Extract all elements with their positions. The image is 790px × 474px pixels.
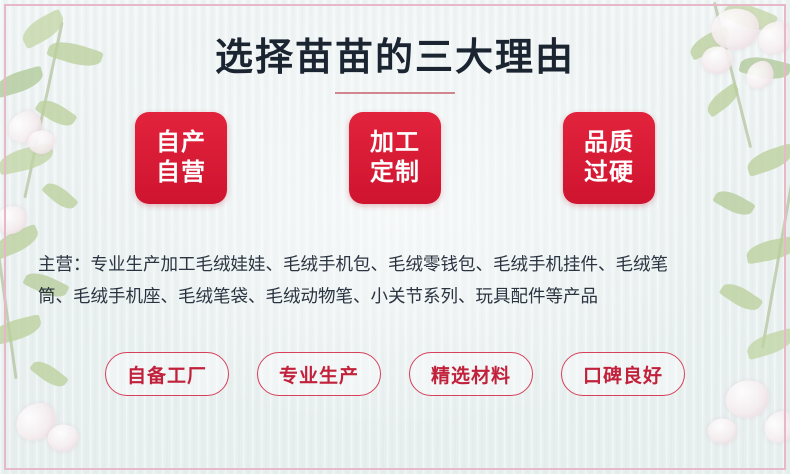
reason-badge-line1: 自产 bbox=[156, 128, 206, 158]
reason-badge-quality: 品质 过硬 bbox=[563, 112, 655, 204]
title-underline-divider bbox=[335, 92, 455, 94]
reason-badge-custom-processing: 加工 定制 bbox=[349, 112, 441, 204]
feature-tag-professional-production: 专业生产 bbox=[257, 352, 381, 396]
business-scope-description: 主营：专业生产加工毛绒娃娃、毛绒手机包、毛绒零钱包、毛绒手机挂件、毛绒笔 筒、毛… bbox=[38, 248, 752, 312]
feature-tag-list: 自备工厂 专业生产 精选材料 口碑良好 bbox=[0, 352, 790, 396]
banner-content: 选择苗苗的三大理由 自产 自营 加工 定制 品质 过硬 主营：专业生产加工毛绒娃… bbox=[0, 0, 790, 474]
reason-badge-line2: 过硬 bbox=[584, 158, 634, 188]
reason-badge-line1: 品质 bbox=[584, 128, 634, 158]
reason-badge-list: 自产 自营 加工 定制 品质 过硬 bbox=[0, 112, 790, 204]
promo-banner: 选择苗苗的三大理由 自产 自营 加工 定制 品质 过硬 主营：专业生产加工毛绒娃… bbox=[0, 0, 790, 474]
feature-tag-good-reputation: 口碑良好 bbox=[561, 352, 685, 396]
page-title: 选择苗苗的三大理由 bbox=[0, 26, 790, 81]
description-line-2: 筒、毛绒手机座、毛绒笔袋、毛绒动物笔、小关节系列、玩具配件等产品 bbox=[38, 280, 752, 312]
description-line-1: 主营：专业生产加工毛绒娃娃、毛绒手机包、毛绒零钱包、毛绒手机挂件、毛绒笔 bbox=[38, 248, 752, 280]
reason-badge-line1: 加工 bbox=[370, 128, 420, 158]
feature-tag-own-factory: 自备工厂 bbox=[105, 352, 229, 396]
reason-badge-line2: 自营 bbox=[156, 158, 206, 188]
reason-badge-self-production: 自产 自营 bbox=[135, 112, 227, 204]
reason-badge-line2: 定制 bbox=[370, 158, 420, 188]
feature-tag-selected-materials: 精选材料 bbox=[409, 352, 533, 396]
